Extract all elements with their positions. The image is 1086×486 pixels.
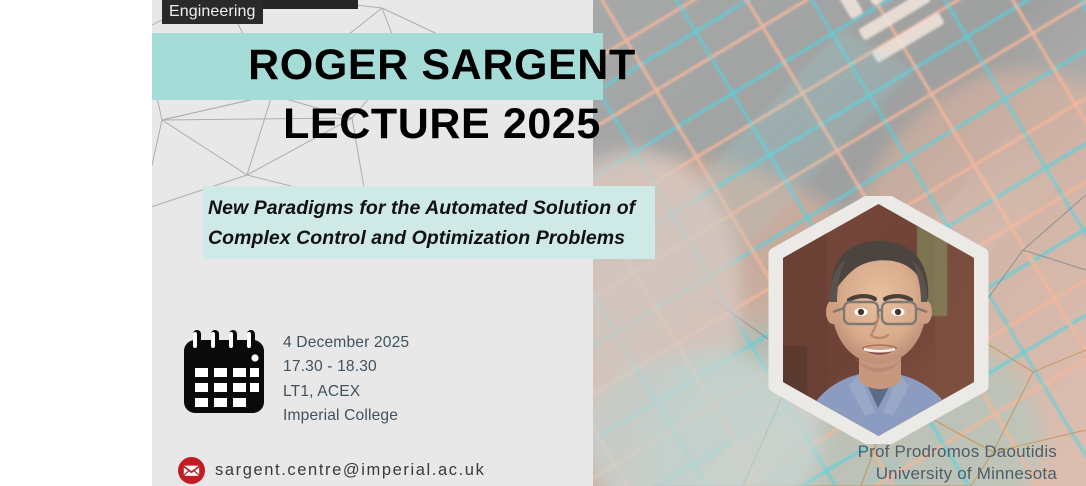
subtitle-line-2: Complex Control and Optimization Problem… — [208, 223, 808, 253]
department-tag: Engineering — [162, 0, 263, 24]
contact-email[interactable]: sargent.centre@imperial.ac.uk — [215, 461, 485, 480]
contact-email-row[interactable]: sargent.centre@imperial.ac.uk — [178, 457, 485, 484]
event-details: 4 December 2025 17.30 - 18.30 LT1, ACEX … — [183, 326, 409, 429]
event-venue: Imperial College — [283, 404, 409, 428]
envelope-icon — [178, 457, 205, 484]
page-title: Roger Sargent Lecture 2025 — [152, 36, 732, 154]
title-line-2: Lecture 2025 — [152, 95, 732, 154]
speaker-name: Prof Prodromos Daoutidis — [602, 441, 1057, 463]
speaker-caption: Prof Prodromos Daoutidis University of M… — [602, 441, 1057, 484]
subtitle-line-1: New Paradigms for the Automated Solution… — [208, 193, 808, 223]
lecture-subtitle: New Paradigms for the Automated Solution… — [208, 193, 808, 253]
event-date: 4 December 2025 — [283, 331, 409, 355]
speaker-hexagon-portrait — [767, 196, 990, 444]
poster: Engineering Roger Sargent Lecture 2025 N… — [152, 0, 1086, 486]
poster-canvas: Engineering Roger Sargent Lecture 2025 N… — [0, 0, 1086, 486]
calendar-icon — [183, 326, 265, 416]
event-room: LT1, ACEX — [283, 380, 409, 404]
event-time: 17.30 - 18.30 — [283, 355, 409, 379]
speaker-photo — [767, 196, 990, 444]
event-details-text: 4 December 2025 17.30 - 18.30 LT1, ACEX … — [283, 326, 409, 429]
title-line-1: Roger Sargent — [152, 36, 732, 95]
speaker-affiliation: University of Minnesota — [602, 463, 1057, 485]
